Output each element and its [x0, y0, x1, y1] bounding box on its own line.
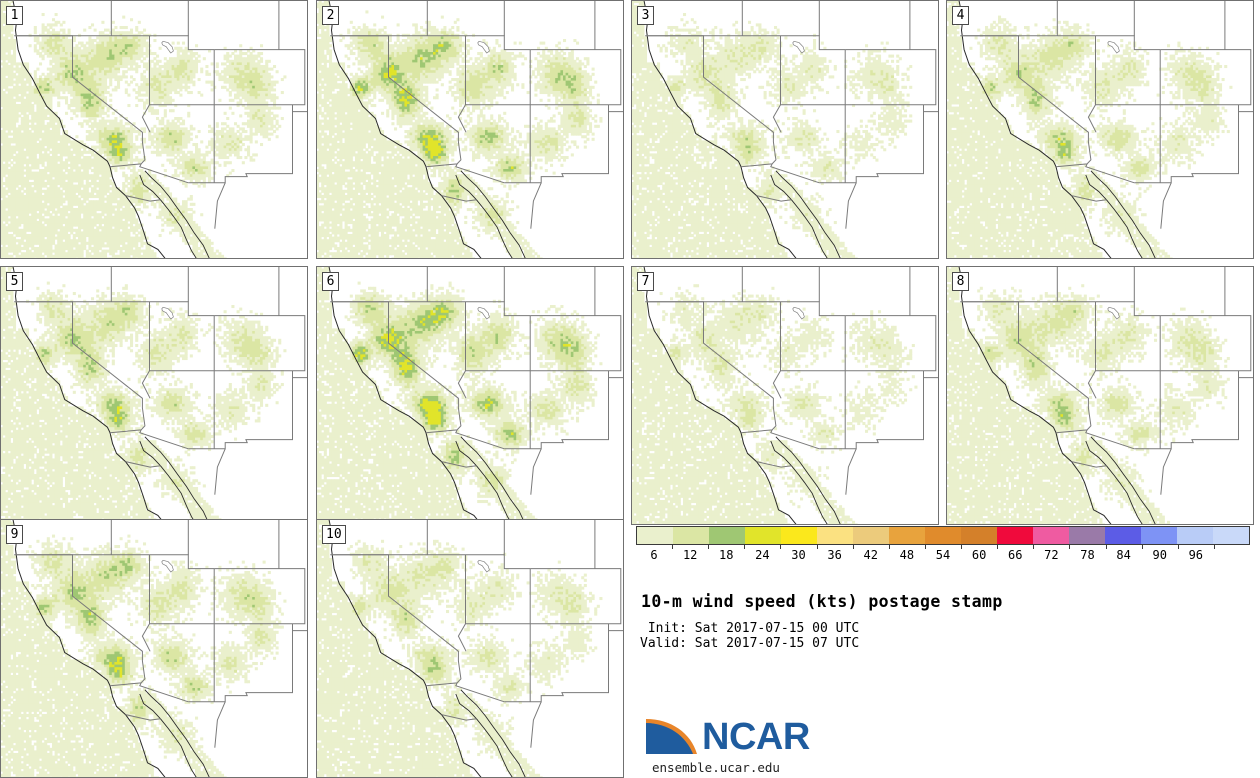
colorbar-tick-label-96: 96	[1189, 548, 1203, 562]
colorbar-tick-mark-78	[1106, 545, 1107, 549]
ncar-logo-mark	[644, 714, 700, 758]
colorbar-tick-label-72: 72	[1044, 548, 1058, 562]
colorbar-tick-label-48: 48	[900, 548, 914, 562]
colorbar-tick-mark-30	[817, 545, 818, 549]
colorbar-tick-label-90: 90	[1152, 548, 1166, 562]
colorbar-band-12	[1069, 527, 1105, 544]
map-panel-member-8[interactable]: 8	[946, 266, 1254, 525]
colorbar-band-5	[817, 527, 853, 544]
wind-speed-raster	[631, 0, 912, 259]
wind-speed-field	[316, 519, 624, 778]
wind-speed-field	[946, 266, 1254, 525]
init-time-text: Init: Sat 2017-07-15 00 UTC	[640, 621, 859, 636]
panel-number-label: 1	[6, 6, 23, 25]
panel-number-label: 9	[6, 525, 23, 544]
colorbar-tick-mark-60	[997, 545, 998, 549]
colorbar-tick-label-84: 84	[1116, 548, 1130, 562]
colorbar-tick-mark-36	[853, 545, 854, 549]
colorbar-band-13	[1105, 527, 1141, 544]
colorbar-band-6	[853, 527, 889, 544]
colorbar-tick-mark-90	[1178, 545, 1179, 549]
colorbar-band-0	[637, 527, 673, 544]
colorbar-band-3	[745, 527, 781, 544]
panel-number-label: 8	[952, 272, 969, 291]
colorbar-tick-mark-12	[708, 545, 709, 549]
colorbar-tick-mark-48	[925, 545, 926, 549]
colorbar-tick-mark-6	[672, 545, 673, 549]
colorbar-tick-label-60: 60	[972, 548, 986, 562]
map-panel-member-1[interactable]: 1	[0, 0, 308, 259]
panel-number-label: 3	[637, 6, 654, 25]
map-panel-member-3[interactable]: 3	[631, 0, 939, 259]
wind-speed-field	[316, 266, 624, 525]
colorbar-tick-label-12: 12	[683, 548, 697, 562]
colorbar-tick-label-24: 24	[755, 548, 769, 562]
wind-speed-raster	[316, 519, 602, 778]
wind-speed-field	[631, 266, 939, 525]
panel-number-label: 4	[952, 6, 969, 25]
colorbar-tick-mark-84	[1142, 545, 1143, 549]
panel-number-label: 2	[322, 6, 339, 25]
ncar-url-text: ensemble.ucar.edu	[652, 760, 780, 775]
legend-area: 6121824303642485460667278849096 10-m win…	[636, 524, 1254, 778]
colorbar-tick-label-36: 36	[827, 548, 841, 562]
wind-speed-field	[946, 0, 1254, 259]
wind-speed-raster	[316, 266, 602, 525]
colorbar-band-15	[1177, 527, 1213, 544]
wind-speed-field	[0, 0, 308, 259]
map-panel-member-2[interactable]: 2	[316, 0, 624, 259]
colorbar-tick-label-30: 30	[791, 548, 805, 562]
wind-speed-field	[0, 519, 308, 778]
map-panel-member-9[interactable]: 9	[0, 519, 308, 778]
colorbar-tick-label-6: 6	[650, 548, 657, 562]
colorbar-tick-mark-24	[780, 545, 781, 549]
wind-speed-raster	[0, 0, 286, 259]
colorbar-band-8	[925, 527, 961, 544]
panel-number-label: 7	[637, 272, 654, 291]
wind-speed-field	[631, 0, 939, 259]
valid-time-text: Valid: Sat 2017-07-15 07 UTC	[640, 636, 859, 651]
wind-speed-raster	[631, 266, 917, 525]
colorbar-band-16	[1213, 527, 1249, 544]
colorbar-tick-mark-72	[1069, 545, 1070, 549]
map-panel-member-10[interactable]: 10	[316, 519, 624, 778]
colorbar-band-4	[781, 527, 817, 544]
colorbar-tick-mark-66	[1033, 545, 1034, 549]
ncar-wordmark: NCAR	[702, 717, 810, 757]
colorbar-band-11	[1033, 527, 1069, 544]
colorbar-band-1	[673, 527, 709, 544]
colorbar-tick-label-78: 78	[1080, 548, 1094, 562]
colorbar-band-14	[1141, 527, 1177, 544]
map-panel-member-5[interactable]: 5	[0, 266, 308, 525]
panel-number-label: 6	[322, 272, 339, 291]
panel-number-label: 5	[6, 272, 23, 291]
wind-speed-colorbar	[636, 526, 1250, 545]
figure-title: 10-m wind speed (kts) postage stamp	[641, 592, 1003, 611]
water-bodies	[793, 41, 805, 53]
colorbar-band-9	[961, 527, 997, 544]
wind-speed-field	[0, 266, 308, 525]
wind-speed-raster	[946, 0, 1232, 259]
colorbar-tick-label-66: 66	[1008, 548, 1022, 562]
colorbar-tick-label-42: 42	[864, 548, 878, 562]
colorbar-band-2	[709, 527, 745, 544]
colorbar-tick-mark-18	[744, 545, 745, 549]
colorbar-tick-label-18: 18	[719, 548, 733, 562]
map-panel-member-4[interactable]: 4	[946, 0, 1254, 259]
wind-speed-raster	[0, 519, 286, 778]
colorbar-tick-mark-96	[1214, 545, 1215, 549]
colorbar-tick-label-54: 54	[936, 548, 950, 562]
wind-speed-raster	[946, 266, 1230, 525]
wind-speed-raster	[316, 0, 602, 259]
colorbar-tick-mark-54	[961, 545, 962, 549]
colorbar-band-10	[997, 527, 1033, 544]
ncar-logo: NCAR ensemble.ucar.edu	[644, 714, 944, 776]
map-panel-member-7[interactable]: 7	[631, 266, 939, 525]
map-panel-member-6[interactable]: 6	[316, 266, 624, 525]
water-bodies	[478, 560, 490, 572]
colorbar-tick-labels: 6121824303642485460667278849096	[636, 545, 1250, 563]
panel-number-label: 10	[322, 525, 346, 544]
colorbar-band-7	[889, 527, 925, 544]
wind-speed-raster	[0, 266, 286, 525]
wind-speed-field	[316, 0, 624, 259]
colorbar-tick-mark-42	[889, 545, 890, 549]
